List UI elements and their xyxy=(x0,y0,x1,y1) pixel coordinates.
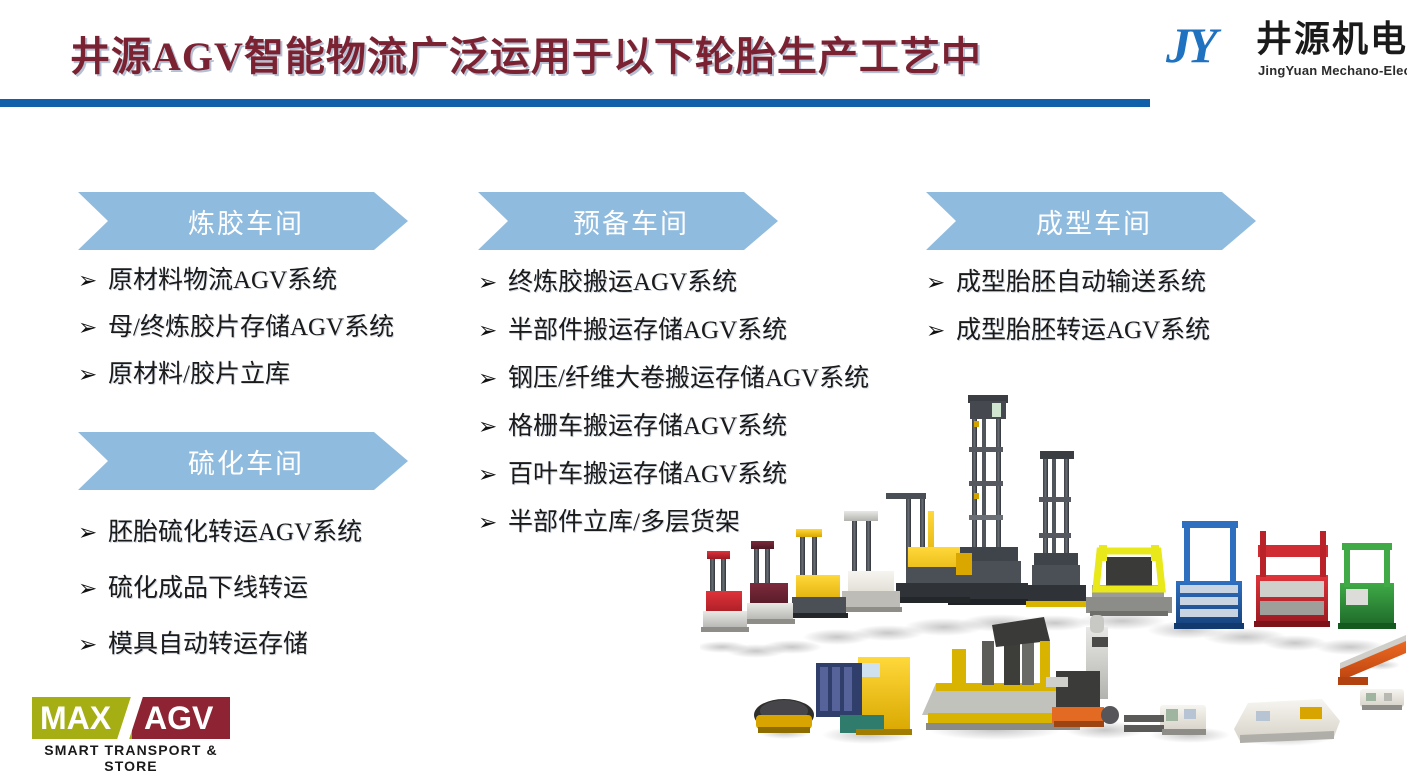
list-item-label: 成型胎胚转运AGV系统 xyxy=(956,314,1210,348)
column-curing: 硫化车间 ➢ 胚胎硫化转运AGV系统 ➢ 硫化成品下线转运 ➢ 模具自动转运存储 xyxy=(78,432,408,675)
list-item: ➢ 硫化成品下线转运 xyxy=(78,572,408,606)
column-forming: 成型车间 ➢ 成型胎胚自动输送系统 ➢ 成型胎胚转运AGV系统 xyxy=(926,192,1256,361)
agv-yellow-engine-carrier xyxy=(816,657,912,735)
list-item-label: 母/终炼胶片存储AGV系统 xyxy=(108,311,394,345)
item-list-forming: ➢ 成型胎胚自动输送系统 ➢ 成型胎胚转运AGV系统 xyxy=(926,266,1256,348)
arrow-bullet-icon: ➢ xyxy=(78,516,108,550)
agv-tall-mast-2 xyxy=(1026,451,1088,607)
arrow-bullet-icon: ➢ xyxy=(78,628,108,662)
arrow-bullet-icon: ➢ xyxy=(78,311,108,345)
arrow-bullet-icon: ➢ xyxy=(78,264,108,298)
brand-logo: JY 井源机电 JingYuan Mechano-Electric xyxy=(1166,18,1398,90)
list-item-label: 半部件搬运存储AGV系统 xyxy=(508,314,787,348)
footer-logo: MAX AGV SMART TRANSPORT & STORE xyxy=(32,697,230,774)
banner-mixing: 炼胶车间 xyxy=(78,192,408,250)
list-item: ➢ 成型胎胚自动输送系统 xyxy=(926,266,1256,300)
page-title: 井源AGV智能物流广泛运用于以下轮胎生产工艺中 xyxy=(70,24,982,82)
agv-product-lineup-image xyxy=(700,385,1407,784)
agv-pallet-truck-white xyxy=(1124,705,1206,735)
brand-name-en: JingYuan Mechano-Electric xyxy=(1258,63,1407,78)
list-item-label: 胚胎硫化转运AGV系统 xyxy=(108,516,362,550)
agv-yellow-lift-platform xyxy=(1086,545,1172,616)
arrow-bullet-icon: ➢ xyxy=(478,314,508,348)
arrow-bullet-icon: ➢ xyxy=(478,266,508,300)
banner-curing: 硫化车间 xyxy=(78,432,408,490)
column-mixing: 炼胶车间 ➢ 原材料物流AGV系统 ➢ 母/终炼胶片存储AGV系统 ➢ 原材料/… xyxy=(78,192,408,405)
arrow-bullet-icon: ➢ xyxy=(478,410,508,444)
agv-stacker-maroon xyxy=(745,541,795,624)
item-list-mixing: ➢ 原材料物流AGV系统 ➢ 母/终炼胶片存储AGV系统 ➢ 原材料/胶片立库 xyxy=(78,264,408,392)
arrow-bullet-icon: ➢ xyxy=(926,266,956,300)
arrow-bullet-icon: ➢ xyxy=(926,314,956,348)
agv-unit-load-carrier xyxy=(1234,699,1340,743)
footer-logo-word-max: MAX xyxy=(40,700,111,736)
list-item: ➢ 原材料物流AGV系统 xyxy=(78,264,408,298)
arrow-bullet-icon: ➢ xyxy=(78,358,108,392)
list-item: ➢ 终炼胶搬运AGV系统 xyxy=(478,266,778,300)
agv-green-cabinet xyxy=(1338,543,1396,629)
agv-tow-tractor xyxy=(1046,615,1119,727)
agv-red-shelf-transfer xyxy=(1254,531,1330,627)
agv-reach-truck-yellow xyxy=(886,493,972,603)
arrow-bullet-icon: ➢ xyxy=(478,362,508,396)
list-item-label: 原材料物流AGV系统 xyxy=(108,264,337,298)
footer-logo-blocks: MAX AGV xyxy=(32,697,230,739)
banner-label: 成型车间 xyxy=(1030,202,1152,241)
agv-blue-roller-deck xyxy=(1174,521,1244,629)
list-item: ➢ 胚胎硫化转运AGV系统 xyxy=(78,516,408,550)
banner-label: 炼胶车间 xyxy=(182,202,304,241)
arrow-bullet-icon: ➢ xyxy=(478,458,508,492)
item-list-curing: ➢ 胚胎硫化转运AGV系统 ➢ 硫化成品下线转运 ➢ 模具自动转运存储 xyxy=(78,516,408,662)
banner-preparation: 预备车间 xyxy=(478,192,778,250)
list-item: ➢ 模具自动转运存储 xyxy=(78,628,408,662)
list-item: ➢ 半部件搬运存储AGV系统 xyxy=(478,314,778,348)
list-item: ➢ 母/终炼胶片存储AGV系统 xyxy=(78,311,408,345)
list-item: ➢ 原材料/胶片立库 xyxy=(78,358,408,392)
jy-monogram-icon: JY xyxy=(1166,20,1214,70)
arrow-bullet-icon: ➢ xyxy=(478,506,508,540)
slide-root: 井源AGV智能物流广泛运用于以下轮胎生产工艺中 JY 井源机电 JingYuan… xyxy=(0,0,1407,784)
list-item: ➢ 成型胎胚转运AGV系统 xyxy=(926,314,1256,348)
list-item-label: 模具自动转运存储 xyxy=(108,628,308,662)
agv-black-disc-unit xyxy=(754,699,814,733)
list-item-label: 成型胎胚自动输送系统 xyxy=(956,266,1206,300)
agv-small-shuttle xyxy=(1360,689,1404,710)
list-item-label: 原材料/胶片立库 xyxy=(108,358,290,392)
list-item-label: 硫化成品下线转运 xyxy=(108,572,308,606)
footer-logo-tagline: SMART TRANSPORT & STORE xyxy=(32,742,230,774)
banner-forming: 成型车间 xyxy=(926,192,1256,250)
footer-logo-word-agv: AGV xyxy=(144,700,213,736)
arrow-bullet-icon: ➢ xyxy=(78,572,108,606)
banner-label: 预备车间 xyxy=(567,202,689,241)
agv-stacker-yellow-small xyxy=(790,529,848,618)
title-divider xyxy=(0,99,1150,107)
brand-name-cn: 井源机电 xyxy=(1256,18,1407,60)
agv-stacker-red xyxy=(701,551,749,632)
banner-label: 硫化车间 xyxy=(182,442,304,481)
list-item-label: 终炼胶搬运AGV系统 xyxy=(508,266,737,300)
agv-stacker-white xyxy=(840,511,902,612)
